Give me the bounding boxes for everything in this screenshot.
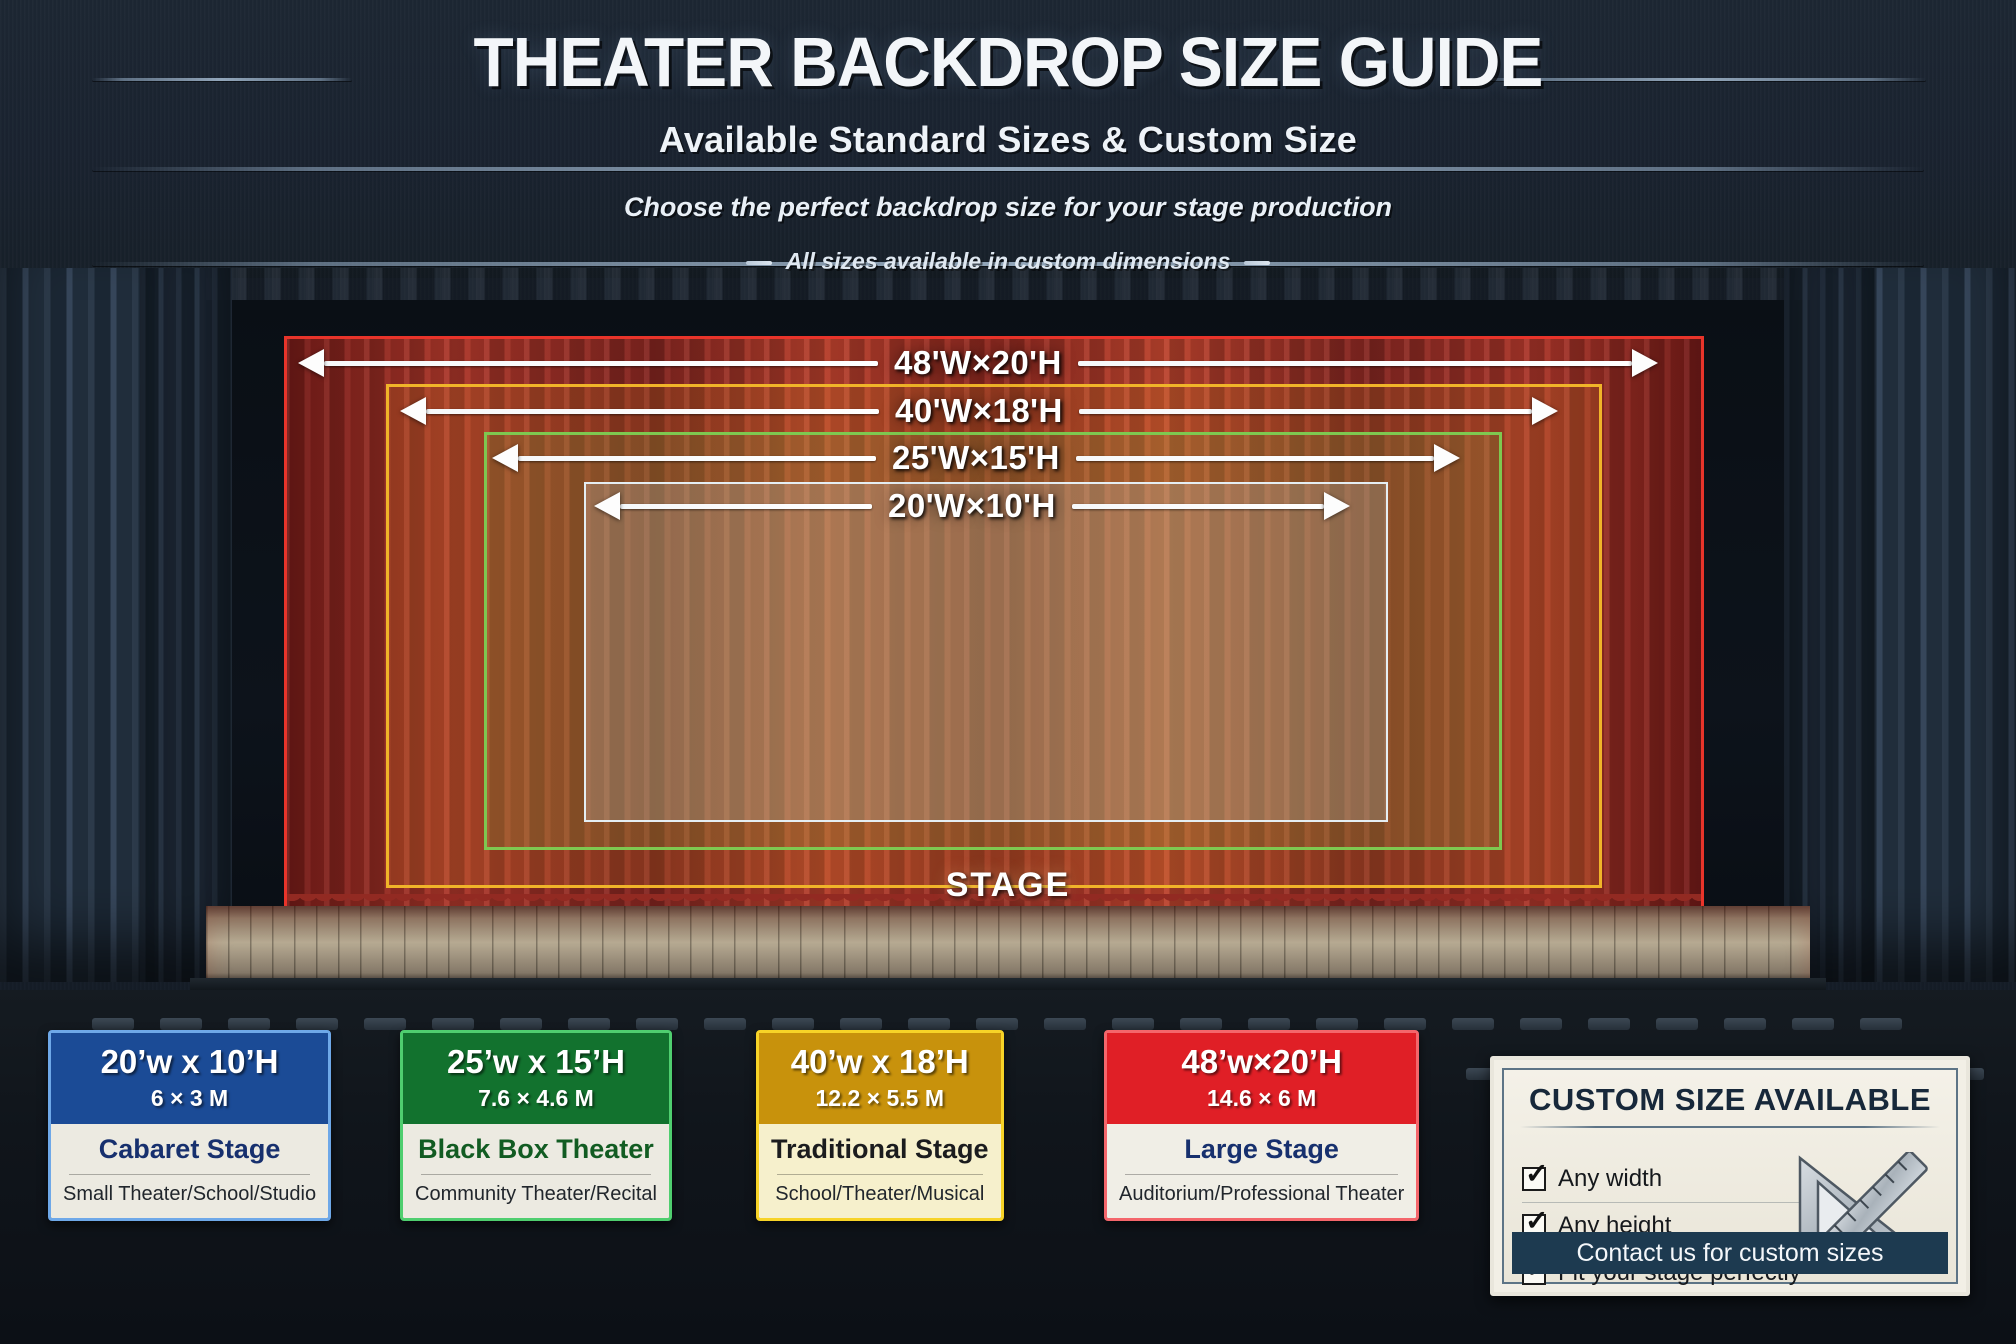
size-card-header: 48’w×20’H 14.6 × 6 M [1107, 1033, 1416, 1124]
arrow-bar-left [426, 409, 879, 414]
size-card-name: Traditional Stage [771, 1134, 989, 1165]
size-card-traditional-stage[interactable]: 40’w x 18’H 12.2 × 5.5 M Traditional Sta… [756, 1030, 1004, 1221]
arrowhead-right-icon [1532, 397, 1558, 425]
size-frame-20x10 [584, 482, 1388, 822]
seat [1452, 1018, 1494, 1030]
seat [1656, 1018, 1698, 1030]
seat [704, 1018, 746, 1030]
size-card-meters: 7.6 × 4.6 M [417, 1085, 655, 1112]
size-card-meters: 6 × 3 M [65, 1085, 314, 1112]
size-card-meters: 14.6 × 6 M [1121, 1085, 1402, 1112]
size-card-name: Large Stage [1119, 1134, 1404, 1165]
size-card-rule [421, 1174, 651, 1175]
size-card-header: 20’w x 10’H 6 × 3 M [51, 1033, 328, 1124]
size-card-header: 40’w x 18’H 12.2 × 5.5 M [759, 1033, 1001, 1124]
seat [568, 1018, 610, 1030]
arrowhead-right-icon [1632, 349, 1658, 377]
seat [228, 1018, 270, 1030]
arrowhead-left-icon [594, 492, 620, 520]
seat [432, 1018, 474, 1030]
size-card-feet: 40’w x 18’H [773, 1043, 987, 1081]
custom-size-title: CUSTOM SIZE AVAILABLE [1520, 1082, 1940, 1118]
dash-left-icon [746, 261, 772, 265]
size-card-use: Auditorium/Professional Theater [1119, 1183, 1404, 1206]
arrow-bar-right [1072, 504, 1324, 509]
dimension-arrow-20x10: 20'W×10'H [594, 486, 1382, 526]
arrow-bar-right [1078, 361, 1632, 366]
dimension-label-20x10: 20'W×10'H [872, 487, 1072, 525]
seat [1792, 1018, 1834, 1030]
custom-feature-label: Any width [1558, 1165, 1662, 1193]
size-card-feet: 25’w x 15’H [417, 1043, 655, 1081]
dimension-label-48x20: 48'W×20'H [878, 344, 1078, 382]
size-card-rule [1125, 1174, 1398, 1175]
seat-row-front [92, 1018, 1902, 1030]
page-title: THEATER BACKDROP SIZE GUIDE [60, 22, 1955, 102]
size-card-black-box-theater[interactable]: 25’w x 15’H 7.6 × 4.6 M Black Box Theate… [400, 1030, 672, 1221]
arrow-bar-left [324, 361, 878, 366]
seat [636, 1018, 678, 1030]
seat [1384, 1018, 1426, 1030]
size-card-use: School/Theater/Musical [771, 1183, 989, 1206]
infographic-canvas: THEATER BACKDROP SIZE GUIDE Available St… [0, 0, 2016, 1344]
size-card-feet: 20’w x 10’H [65, 1043, 314, 1081]
size-card-rule [69, 1174, 310, 1175]
stage-label: STAGE [0, 866, 2016, 905]
seat [976, 1018, 1018, 1030]
size-card-header: 25’w x 15’H 7.6 × 4.6 M [403, 1033, 669, 1124]
arrowhead-left-icon [400, 397, 426, 425]
seat [1248, 1018, 1290, 1030]
header-divider-middle [92, 167, 1924, 171]
custom-feature-any-width[interactable]: Any width [1522, 1156, 1808, 1202]
size-card-body: Traditional Stage School/Theater/Musical [759, 1124, 1001, 1218]
seat [1724, 1018, 1766, 1030]
dimension-label-25x15: 25'W×15'H [876, 439, 1076, 477]
seat [772, 1018, 814, 1030]
size-card-rule [777, 1174, 983, 1175]
page-tagline: Choose the perfect backdrop size for you… [0, 192, 2016, 223]
size-card-feet: 48’w×20’H [1121, 1043, 1402, 1081]
size-card-use: Small Theater/School/Studio [63, 1183, 316, 1206]
size-card-body: Black Box Theater Community Theater/Reci… [403, 1124, 669, 1218]
seat [1520, 1018, 1562, 1030]
size-card-meters: 12.2 × 5.5 M [773, 1085, 987, 1112]
custom-size-feature-list: Any width Any height Fit your stage perf… [1522, 1156, 1808, 1296]
page-subtitle: Available Standard Sizes & Custom Size [0, 119, 2016, 161]
arrowhead-right-icon [1434, 444, 1460, 472]
size-card-cabaret-stage[interactable]: 20’w x 10’H 6 × 3 M Cabaret Stage Small … [48, 1030, 331, 1221]
seat [1316, 1018, 1358, 1030]
size-card-body: Large Stage Auditorium/Professional Thea… [1107, 1124, 1416, 1218]
arrowhead-right-icon [1324, 492, 1350, 520]
seat [908, 1018, 950, 1030]
seat [1588, 1018, 1630, 1030]
seat [1180, 1018, 1222, 1030]
custom-size-footer-label: Contact us for custom sizes [1576, 1239, 1883, 1268]
arrow-bar-left [620, 504, 872, 509]
seat [364, 1018, 406, 1030]
seat [840, 1018, 882, 1030]
dimension-label-40x18: 40'W×18'H [879, 392, 1079, 430]
arrowhead-left-icon [298, 349, 324, 377]
size-card-name: Black Box Theater [415, 1134, 657, 1165]
custom-size-panel[interactable]: CUSTOM SIZE AVAILABLE Any width Any heig… [1490, 1056, 1970, 1296]
seat [160, 1018, 202, 1030]
size-card-name: Cabaret Stage [63, 1134, 316, 1165]
custom-size-title-rule [1520, 1126, 1940, 1128]
dash-right-icon [1244, 261, 1270, 265]
arrow-bar-right [1079, 409, 1532, 414]
arrow-bar-left [518, 456, 876, 461]
stage-floor [206, 906, 1810, 982]
seat [92, 1018, 134, 1030]
seat [1112, 1018, 1154, 1030]
size-card-large-stage[interactable]: 48’w×20’H 14.6 × 6 M Large Stage Auditor… [1104, 1030, 1419, 1221]
seat [1860, 1018, 1902, 1030]
size-card-use: Community Theater/Recital [415, 1183, 657, 1206]
arrowhead-left-icon [492, 444, 518, 472]
seat [296, 1018, 338, 1030]
dimension-arrow-40x18: 40'W×18'H [400, 391, 1590, 431]
checkbox-checked-icon[interactable] [1522, 1167, 1546, 1191]
seat [500, 1018, 542, 1030]
custom-size-panel-inner: CUSTOM SIZE AVAILABLE Any width Any heig… [1502, 1068, 1958, 1284]
dimension-arrow-25x15: 25'W×15'H [492, 438, 1492, 478]
size-card-body: Cabaret Stage Small Theater/School/Studi… [51, 1124, 328, 1218]
arrow-bar-right [1076, 456, 1434, 461]
dimension-arrow-48x20: 48'W×20'H [298, 343, 1690, 383]
custom-size-footer[interactable]: Contact us for custom sizes [1512, 1232, 1948, 1274]
seat [1044, 1018, 1086, 1030]
